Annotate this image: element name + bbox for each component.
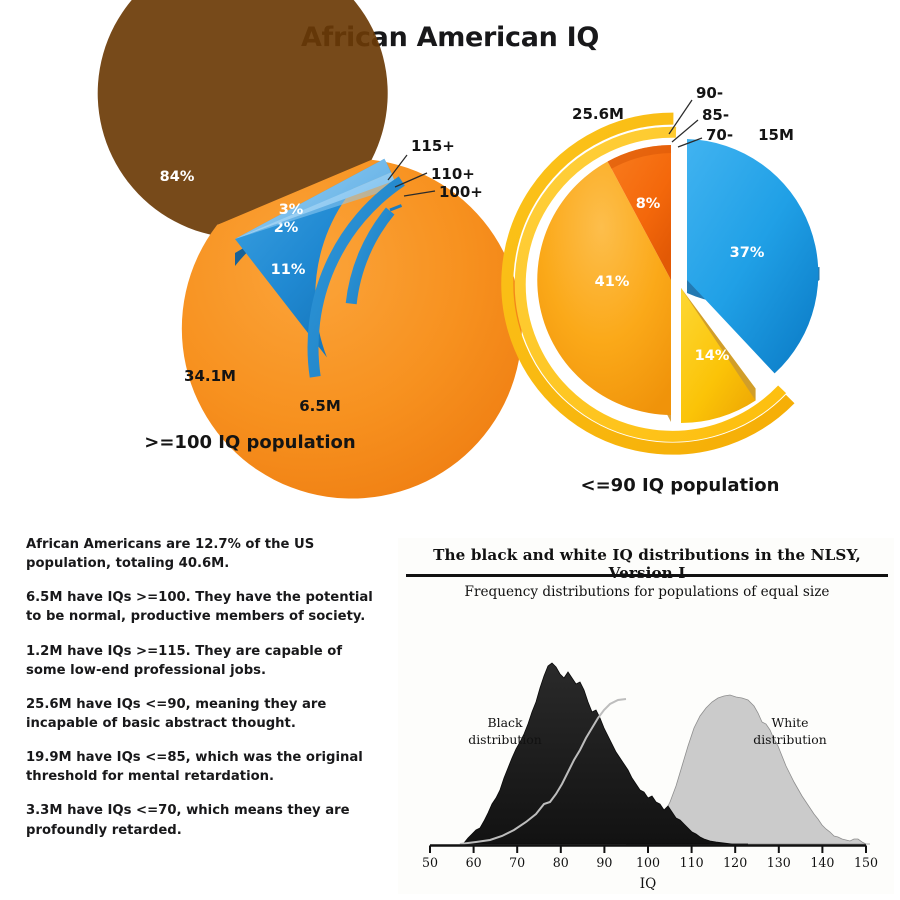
nlsy-title-rule xyxy=(406,574,888,577)
pie-left-label-below100: 84% xyxy=(160,169,195,185)
x-tick-label: 120 xyxy=(723,855,747,870)
pie-right-label-70minus: 8% xyxy=(636,196,661,212)
x-tick-label: 70 xyxy=(509,855,525,870)
pie-right-label-90minus: 14% xyxy=(695,348,730,364)
fact-item: 6.5M have IQs >=100. They have the poten… xyxy=(26,588,386,626)
fact-item: 25.6M have IQs <=90, meaning they are in… xyxy=(26,695,386,733)
fact-item: 19.9M have IQs <=85, which was the origi… xyxy=(26,748,386,786)
pie-right-leader-lines xyxy=(669,100,702,147)
pie-left-label-115plus: 3% xyxy=(279,202,304,218)
fact-item: 3.3M have IQs <=70, which means they are… xyxy=(26,801,386,839)
black-distribution-label-line2: distribution xyxy=(468,732,541,747)
x-axis-label: IQ xyxy=(640,876,657,892)
white-distribution-label-line2: distribution xyxy=(753,732,826,747)
pie-right-label-85minus: 41% xyxy=(595,274,630,290)
facts-list: African Americans are 12.7% of the US po… xyxy=(26,535,386,840)
pie-left-caption: >=100 IQ population xyxy=(80,432,420,453)
pie-left-total-below100: 34.1M xyxy=(184,367,236,385)
x-tick-label: 110 xyxy=(680,855,704,870)
pie-right-callout-70minus: 70- xyxy=(706,126,733,144)
pie-left-callout-115plus: 115+ xyxy=(411,137,455,155)
pie-right-callout-85minus: 85- xyxy=(702,106,729,124)
fact-item: African Americans are 12.7% of the US po… xyxy=(26,535,386,573)
x-tick-label: 80 xyxy=(553,855,569,870)
fact-item: 1.2M have IQs >=115. They are capable of… xyxy=(26,642,386,680)
white-distribution-label-line1: White xyxy=(772,715,809,730)
x-tick-label: 90 xyxy=(596,855,612,870)
x-tick-label: 50 xyxy=(422,855,438,870)
pie-right-callout-90minus: 90- xyxy=(696,84,723,102)
pie-left-label-100plus: 11% xyxy=(271,262,306,278)
pie-right-caption: <=90 IQ population xyxy=(500,475,860,496)
pie-right-label-above90: 37% xyxy=(730,245,765,261)
nlsy-distribution-chart: The black and white IQ distributions in … xyxy=(398,538,894,894)
x-tick-label: 100 xyxy=(636,855,660,870)
pie-left-callout-110plus: 110+ xyxy=(431,165,475,183)
pie-left-callout-100plus: 100+ xyxy=(439,183,483,201)
x-tick-label: 130 xyxy=(767,855,791,870)
pie-chart-ge100: 84% 11% 2% 3% xyxy=(55,55,455,435)
nlsy-subtitle: Frequency distributions for populations … xyxy=(402,584,892,600)
x-tick-label: 150 xyxy=(854,855,878,870)
pie-chart-le90: 37% 14% 41% 8% 90- 85- 70 xyxy=(480,90,880,460)
pie-right-total-le90: 25.6M xyxy=(572,105,624,123)
x-tick-label: 140 xyxy=(810,855,834,870)
black-distribution-label-line1: Black xyxy=(488,715,523,730)
pie-right-total-above90: 15M xyxy=(758,126,794,144)
x-tick-label: 60 xyxy=(466,855,482,870)
pie-left-total-ge100: 6.5M xyxy=(299,397,341,415)
